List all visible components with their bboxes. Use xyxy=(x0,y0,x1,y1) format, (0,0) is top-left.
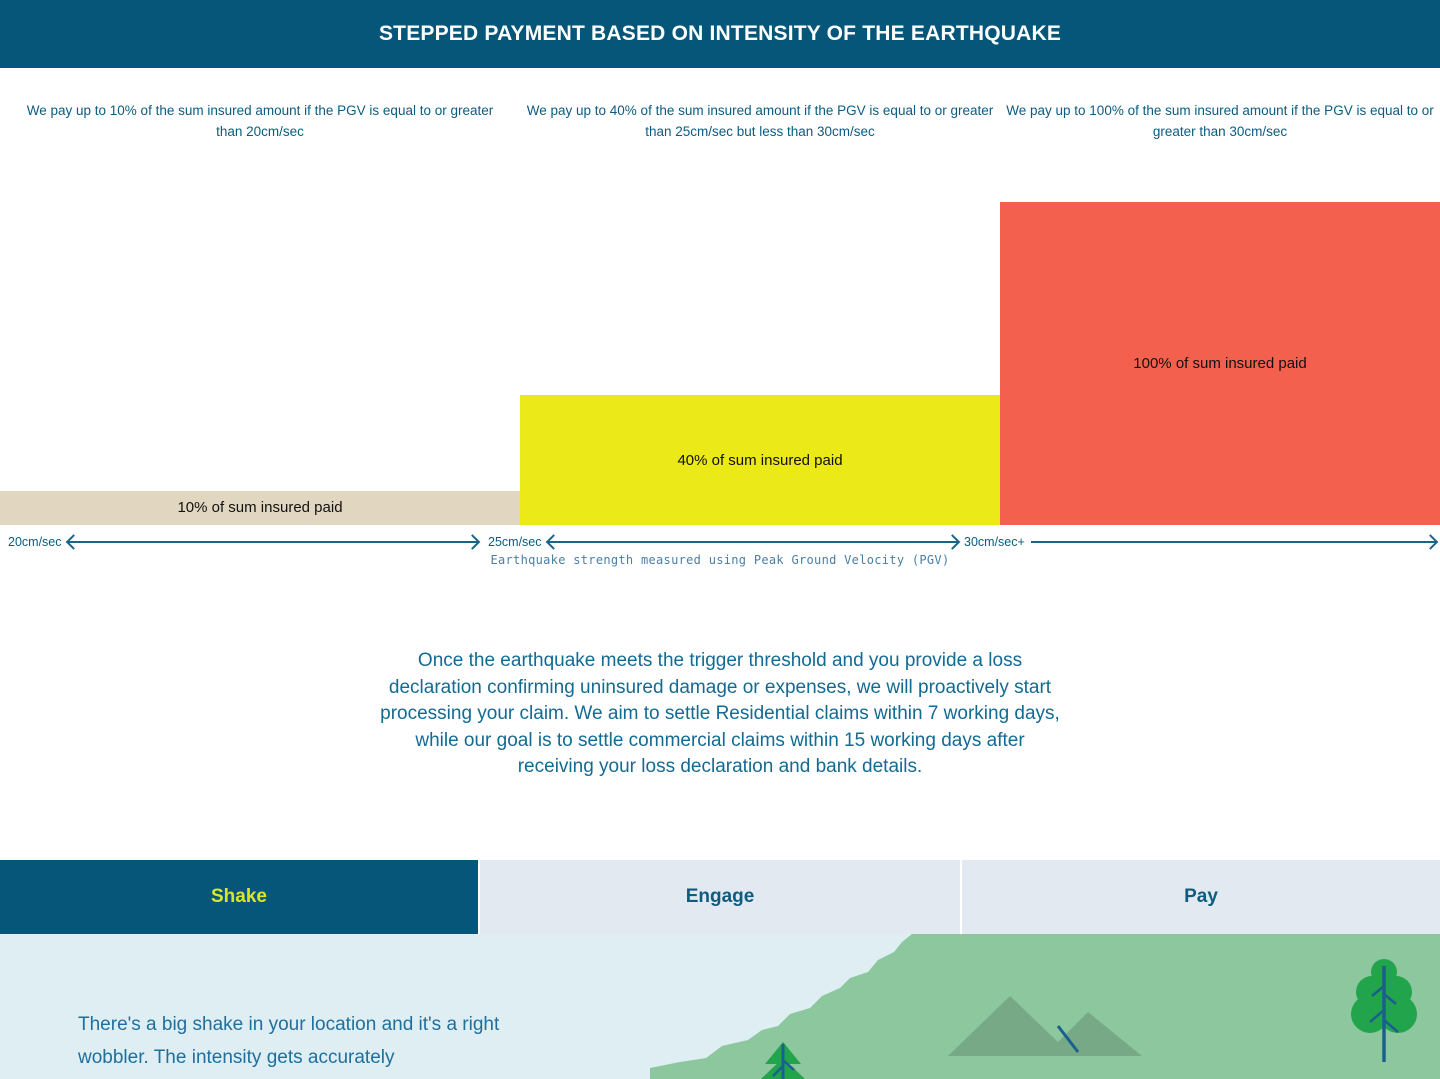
tab-pay[interactable]: Pay xyxy=(960,860,1440,934)
bar-tier-1: 10% of sum insured paid xyxy=(0,491,520,525)
chevron-right-icon xyxy=(465,534,481,550)
chevron-right-icon xyxy=(945,534,961,550)
header-banner: STEPPED PAYMENT BASED ON INTENSITY OF TH… xyxy=(0,0,1440,68)
bar-label-tier-3: 100% of sum insured paid xyxy=(1133,355,1306,372)
claims-process-paragraph: Once the earthquake meets the trigger th… xyxy=(378,648,1062,781)
bar-label-tier-1: 10% of sum insured paid xyxy=(177,499,342,516)
axis-tick-20cm: 20cm/sec xyxy=(8,535,62,549)
axis-tick-25cm: 25cm/sec xyxy=(488,535,542,549)
page-title: STEPPED PAYMENT BASED ON INTENSITY OF TH… xyxy=(379,22,1061,46)
tier-description-3: We pay up to 100% of the sum insured amo… xyxy=(1000,100,1440,142)
bar-tier-3: 100% of sum insured paid xyxy=(1000,202,1440,525)
axis-arrow-3 xyxy=(1031,532,1436,552)
shake-panel: There's a big shake in your location and… xyxy=(0,934,1440,1079)
tier-description-1: We pay up to 10% of the sum insured amou… xyxy=(20,100,500,142)
axis-line-icon xyxy=(68,541,479,543)
tab-engage[interactable]: Engage xyxy=(478,860,960,934)
tab-shake[interactable]: Shake xyxy=(0,860,478,934)
landscape-illustration xyxy=(650,934,1440,1079)
shake-panel-text: There's a big shake in your location and… xyxy=(78,1008,548,1074)
tab-bar: Shake Engage Pay xyxy=(0,860,1440,934)
axis-arrow-2 xyxy=(548,532,959,552)
chevron-left-icon xyxy=(545,534,561,550)
chevron-left-icon xyxy=(65,534,81,550)
bar-tier-2: 40% of sum insured paid xyxy=(520,395,1000,525)
axis-line-icon xyxy=(1031,541,1436,543)
land-shape-icon xyxy=(650,934,1440,1079)
axis-tick-30cm: 30cm/sec+ xyxy=(964,535,1025,549)
chevron-right-icon xyxy=(1423,534,1439,550)
bar-label-tier-2: 40% of sum insured paid xyxy=(677,452,842,469)
axis-line-icon xyxy=(548,541,959,543)
stepped-payment-bar-chart: 10% of sum insured paid 40% of sum insur… xyxy=(0,180,1440,525)
page-root: STEPPED PAYMENT BASED ON INTENSITY OF TH… xyxy=(0,0,1440,1079)
axis-caption: Earthquake strength measured using Peak … xyxy=(0,553,1440,567)
tier-description-2: We pay up to 40% of the sum insured amou… xyxy=(520,100,1000,142)
axis-arrow-1 xyxy=(68,532,479,552)
